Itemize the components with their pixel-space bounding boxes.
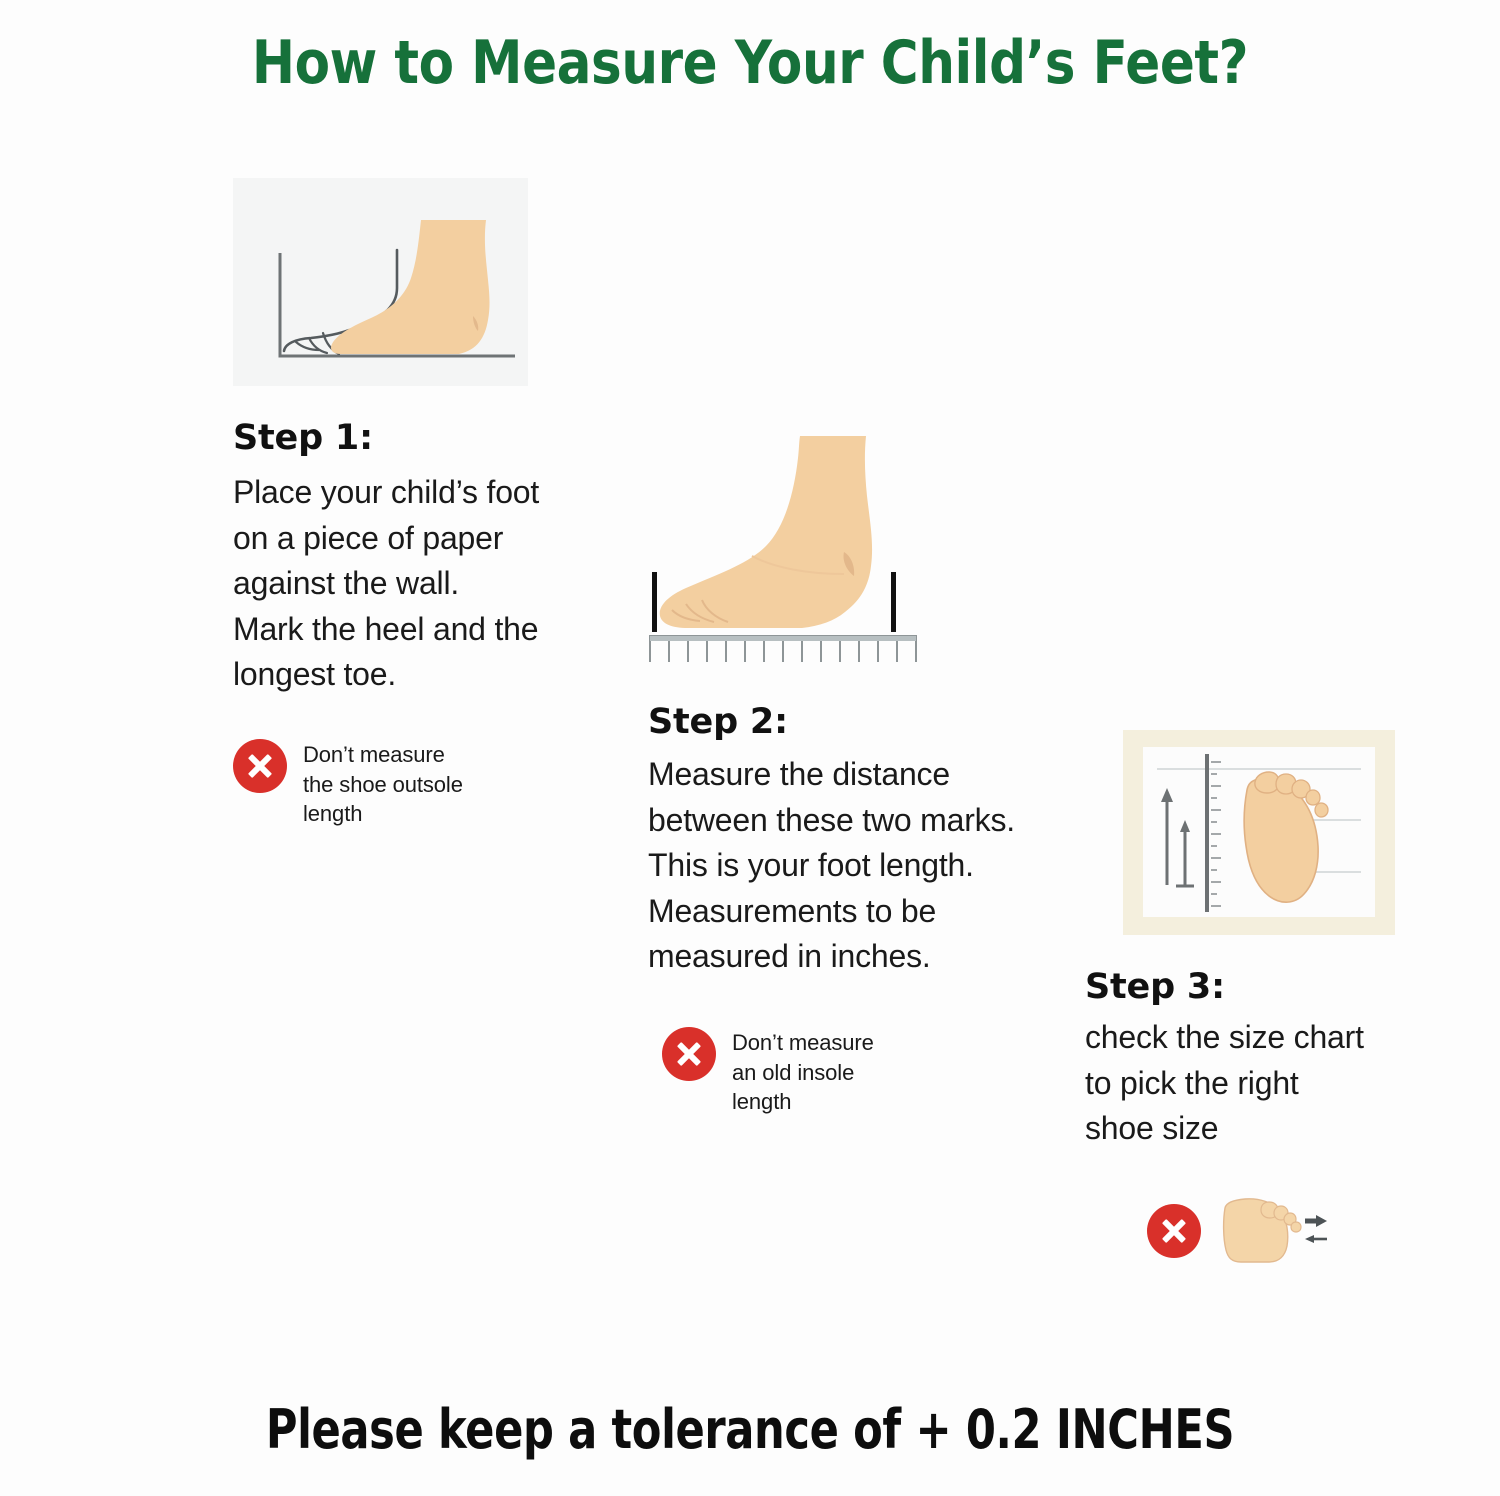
step-2-body-line: between these two marks. [648,798,1078,843]
red-circle-x-icon [1147,1204,1201,1258]
red-circle-x-icon [233,739,287,793]
toe-mark [652,572,657,632]
step-2-warning: Don’t measure an old insole length [662,1027,1078,1116]
step-3-body: check the size chart to pick the right s… [1085,1015,1415,1151]
step-1-illustration [233,178,528,386]
step-2-warning-line: length [732,1087,874,1116]
heel-mark [891,572,896,632]
step-1-warning-line: the shoe outsole [303,770,463,799]
step-1-body-line: Place your child’s foot [233,470,553,515]
step-2-block: Step 2: Measure the distance between the… [648,424,1078,1116]
step-1-body-line: against the wall. [233,561,553,606]
page-title: How to Measure Your Child’s Feet? [105,28,1395,98]
step-1-body-line: Mark the heel and the [233,607,553,652]
step-1-heading: Step 1: [233,418,573,458]
step-1-body-line: longest toe. [233,652,553,697]
red-circle-x-icon [662,1027,716,1081]
step-2-warning-line: Don’t measure [732,1028,874,1057]
step-2-body: Measure the distance between these two m… [648,752,1078,979]
step-3-body-line: to pick the right [1085,1061,1415,1106]
step-3-body-line: check the size chart [1085,1015,1415,1060]
foot-side-view-against-wall-icon [233,178,528,386]
foot-on-ruler-icon [648,424,948,662]
footprint-with-arrows-icon [1219,1194,1329,1268]
step-1-warning-text: Don’t measure the shoe outsole length [303,739,463,828]
step-3-heading: Step 3: [1085,967,1415,1007]
step-1-block: Step 1: Place your child’s foot on a pie… [233,178,573,828]
step-3-warning [1147,1194,1415,1268]
step-3-body-line: shoe size [1085,1106,1415,1151]
step-2-body-line: measured in inches. [648,934,1078,979]
step-1-body-line: on a piece of paper [233,516,553,561]
step-2-illustration [648,424,948,662]
step-2-body-line: Measure the distance [648,752,1078,797]
step-1-warning-line: Don’t measure [303,740,463,769]
footprint-chart-icon [1123,730,1395,935]
step-2-heading: Step 2: [648,702,1078,742]
step-2-warning-text: Don’t measure an old insole length [732,1027,874,1116]
step-3-block: Step 3: check the size chart to pick the… [1085,730,1415,1268]
infographic-page: How to Measure Your Child’s Feet? Step 1… [0,0,1500,1496]
step-1-warning: Don’t measure the shoe outsole length [233,739,573,828]
step-3-illustration [1123,730,1395,935]
tolerance-note: Please keep a tolerance of + 0.2 INCHES [150,1398,1350,1461]
step-2-warning-line: an old insole [732,1058,874,1087]
step-1-body: Place your child’s foot on a piece of pa… [233,470,553,697]
step-1-warning-line: length [303,799,463,828]
step-2-body-line: Measurements to be [648,889,1078,934]
step-2-body-line: This is your foot length. [648,843,1078,888]
